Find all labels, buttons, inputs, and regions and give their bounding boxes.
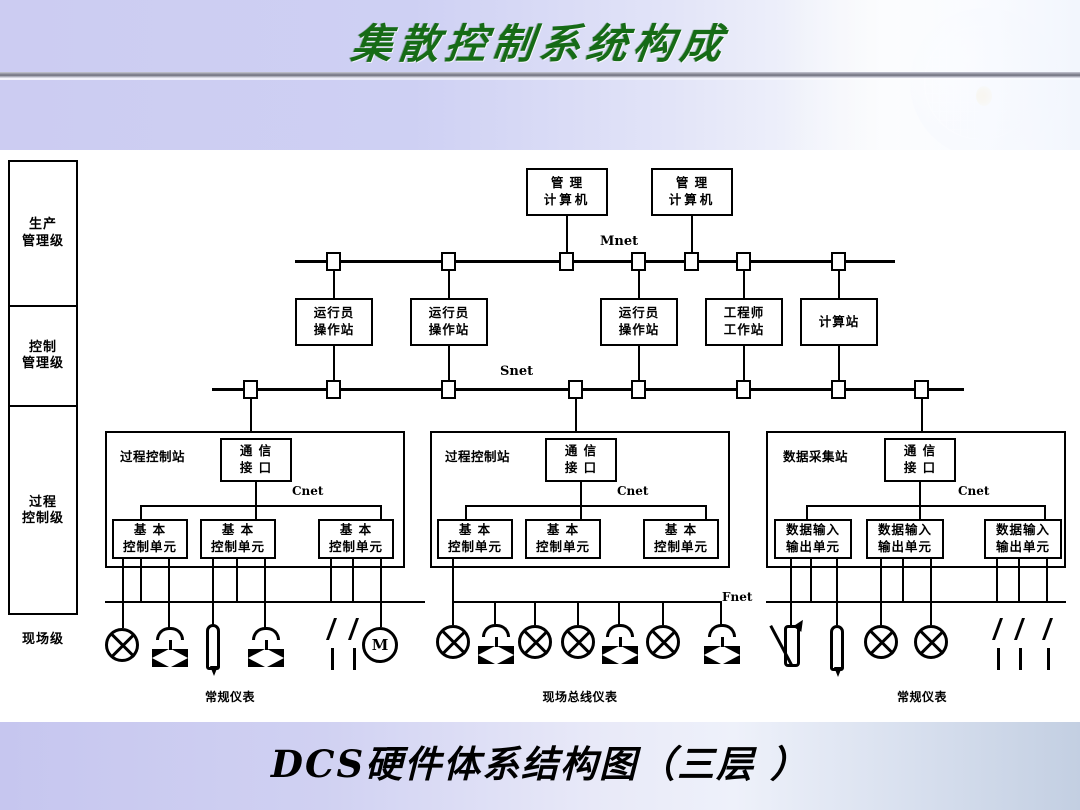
field-level-label: 现场级: [8, 628, 78, 647]
operator-station-1: 运行员 操作站: [295, 298, 373, 346]
variable-transmitter-icon: [784, 625, 804, 669]
field-drop: [140, 559, 142, 601]
link-op1-snet: [333, 346, 335, 384]
box-label-line2: 操作站: [314, 322, 355, 339]
basic-control-unit-1-1: 基 本 控制单元: [112, 519, 188, 559]
link-calc-snet: [838, 346, 840, 384]
cnet-bus-label-1: Cnet: [292, 484, 323, 498]
engineer-workstation: 工程师 工作站: [705, 298, 783, 346]
link-mnet-calc: [838, 269, 840, 301]
box-label-line1: 管 理: [551, 175, 583, 192]
fnet-bus-label: Fnet: [722, 590, 752, 604]
field-group-label-2: 现场总线仪表: [510, 688, 650, 705]
field-drop: [1018, 559, 1020, 601]
box-label-line1: 运行员: [619, 305, 660, 322]
box-label-line1: 基 本: [459, 522, 491, 539]
link-bcu-fnet: [452, 559, 454, 603]
box-label-line2: 工作站: [724, 322, 765, 339]
slide-canvas: 集散控制系统构成 生产 管理级 控制 管理级 过程 控制级: [0, 0, 1080, 810]
link-mnet-op3: [638, 269, 640, 301]
box-label-line1: 通 信: [904, 443, 936, 460]
page-title: 集散控制系统构成: [0, 10, 1080, 70]
field-drop: [930, 559, 932, 601]
mnet-bus-label: Mnet: [600, 234, 638, 249]
instrument-lead: [577, 603, 579, 625]
management-computer-2: 管 理 计算机: [651, 168, 733, 216]
control-valve-icon: [476, 624, 516, 666]
level-label-line1: 过程: [22, 495, 64, 511]
station-title-2: 过程控制站: [445, 446, 510, 465]
basic-control-unit-2-1: 基 本 控制单元: [437, 519, 513, 559]
box-label-line1: 通 信: [565, 443, 597, 460]
sensor-circle-cross-icon: [561, 625, 595, 659]
field-drop: [212, 559, 214, 601]
box-label-line1: 计算站: [819, 314, 860, 331]
thermowell-probe-icon: [206, 624, 220, 670]
operator-station-2: 运行员 操作站: [410, 298, 488, 346]
instrument-lead: [264, 603, 266, 628]
diagram-area: 生产 管理级 控制 管理级 过程 控制级 现场级 管 理 计算机: [0, 150, 1080, 722]
sensor-circle-cross-icon: [105, 628, 139, 662]
bus-tap-node-icon: [326, 380, 341, 399]
box-label-line2: 控制单元: [211, 539, 265, 556]
instrument-lead: [452, 603, 454, 625]
box-label-line1: 工程师: [724, 305, 765, 322]
field-wire-icon: [328, 618, 350, 670]
cnet-trunk-1: [255, 482, 257, 506]
field-drop: [996, 559, 998, 601]
instrument-lead: [212, 603, 214, 625]
box-label-line1: 基 本: [547, 522, 579, 539]
field-drop: [168, 559, 170, 601]
diagram-caption: DCS硬件体系结构图（三层 ）: [0, 734, 1080, 788]
thermowell-probe-icon: [830, 625, 844, 671]
link-snet-pcs2: [575, 398, 577, 432]
field-drop: [1046, 559, 1048, 601]
box-label-line2: 控制单元: [329, 539, 383, 556]
fnet-bus: [452, 601, 722, 603]
box-label-line2: 控制单元: [536, 539, 590, 556]
instrument-lead: [534, 603, 536, 625]
field-wire-icon: [1016, 618, 1038, 670]
cnet-rail-3: [806, 505, 1046, 507]
link-op2-snet: [448, 346, 450, 384]
cnet-bus-label-2: Cnet: [617, 484, 648, 498]
field-drop: [380, 559, 382, 601]
cnet-drop-3b: [919, 505, 921, 520]
box-label-line1: 基 本: [340, 522, 372, 539]
box-label-line1: 基 本: [665, 522, 697, 539]
field-drop: [790, 559, 792, 601]
data-io-unit-2: 数据输入 输出单元: [866, 519, 944, 559]
level-label-line2: 控制级: [22, 511, 64, 527]
control-valve-icon: [150, 627, 190, 669]
basic-control-unit-1-3: 基 本 控制单元: [318, 519, 394, 559]
box-label-line2: 输出单元: [996, 539, 1050, 556]
field-drop: [352, 559, 354, 601]
cnet-drop-1b: [255, 505, 257, 520]
instrument-lead: [790, 603, 792, 625]
field-drop: [264, 559, 266, 601]
box-label-line1: 运行员: [314, 305, 355, 322]
instrument-lead: [720, 603, 722, 625]
bus-tap-node-icon: [914, 380, 929, 399]
box-label-line2: 计算机: [669, 192, 716, 209]
level-cell-process-control: 过程 控制级: [10, 407, 76, 615]
level-label-line2: 管理级: [22, 234, 64, 250]
station-title-3: 数据采集站: [783, 446, 848, 465]
snet-bus-label: Snet: [500, 364, 533, 379]
box-label-line2: 控制单元: [123, 539, 177, 556]
box-label-line2: 控制单元: [448, 539, 502, 556]
field-group-label-3: 常规仪表: [862, 688, 982, 705]
cnet-drop-1c: [380, 505, 382, 520]
sensor-circle-cross-icon: [914, 625, 948, 659]
cnet-bus-label-3: Cnet: [958, 484, 989, 498]
cnet-drop-3c: [1044, 505, 1046, 520]
cnet-trunk-3: [919, 482, 921, 506]
cnet-trunk-2: [580, 482, 582, 506]
bus-tap-node-icon: [831, 380, 846, 399]
link-mgmt2-mnet: [691, 216, 693, 254]
instrument-lead: [618, 603, 620, 625]
sensor-circle-cross-icon: [864, 625, 898, 659]
sensor-circle-cross-icon: [518, 625, 552, 659]
box-label-line2: 操作站: [429, 322, 470, 339]
cnet-drop-2a: [465, 505, 467, 520]
box-label-line2: 输出单元: [786, 539, 840, 556]
title-banner: 集散控制系统构成: [0, 0, 1080, 150]
instrument-lead: [380, 603, 382, 627]
sensor-circle-cross-icon: [436, 625, 470, 659]
comm-interface-2: 通 信 接 口: [545, 438, 617, 482]
box-label-line2: 控制单元: [654, 539, 708, 556]
bus-tap-node-icon: [441, 380, 456, 399]
control-valve-icon: [246, 627, 286, 669]
box-label-line1: 运行员: [429, 305, 470, 322]
field-drop: [330, 559, 332, 601]
field-rail-right: [766, 601, 1066, 603]
bus-tap-node-icon: [559, 252, 574, 271]
box-label-line1: 基 本: [222, 522, 254, 539]
snet-bus: [212, 388, 964, 391]
banner-divider-highlight: [0, 78, 1080, 80]
caption-band: DCS硬件体系结构图（三层 ）: [0, 722, 1080, 810]
control-valve-icon: [600, 624, 640, 666]
basic-control-unit-1-2: 基 本 控制单元: [200, 519, 276, 559]
level-label-line2: 管理级: [22, 356, 64, 372]
bus-tap-node-icon: [243, 380, 258, 399]
control-valve-icon: [702, 624, 742, 666]
basic-control-unit-2-3: 基 本 控制单元: [643, 519, 719, 559]
field-group-label-1: 常规仪表: [170, 688, 290, 705]
instrument-lead: [880, 603, 882, 625]
cnet-rail-2: [465, 505, 707, 507]
instrument-lead: [930, 603, 932, 625]
box-label-line2: 接 口: [904, 460, 936, 477]
mnet-bus: [295, 260, 895, 263]
link-mgmt1-mnet: [566, 216, 568, 254]
field-drop: [236, 559, 238, 601]
basic-control-unit-2-2: 基 本 控制单元: [525, 519, 601, 559]
station-title-1: 过程控制站: [120, 446, 185, 465]
link-snet-pcs1: [250, 398, 252, 432]
link-mnet-op1: [333, 269, 335, 301]
comm-interface-3: 通 信 接 口: [884, 438, 956, 482]
comm-interface-1: 通 信 接 口: [220, 438, 292, 482]
box-label-line1: 数据输入: [996, 522, 1050, 539]
link-op3-snet: [638, 346, 640, 384]
sensor-circle-cross-icon: [646, 625, 680, 659]
link-mnet-eng: [743, 269, 745, 301]
box-label-line2: 操作站: [619, 322, 660, 339]
data-io-unit-1: 数据输入 输出单元: [774, 519, 852, 559]
bus-tap-node-icon: [736, 380, 751, 399]
bus-tap-node-icon: [631, 380, 646, 399]
field-drop: [836, 559, 838, 601]
data-io-unit-3: 数据输入 输出单元: [984, 519, 1062, 559]
cnet-drop-3a: [806, 505, 808, 520]
cnet-drop-2c: [705, 505, 707, 520]
field-drop: [902, 559, 904, 601]
link-mnet-op2: [448, 269, 450, 301]
instrument-lead: [494, 603, 496, 625]
level-cell-production: 生产 管理级: [10, 162, 76, 307]
box-label-line1: 数据输入: [786, 522, 840, 539]
instrument-lead: [836, 603, 838, 625]
field-drop: [122, 559, 124, 601]
box-label-line1: 基 本: [134, 522, 166, 539]
level-cell-control-management: 控制 管理级: [10, 307, 76, 407]
cnet-drop-2b: [580, 505, 582, 520]
level-sidebar: 生产 管理级 控制 管理级 过程 控制级: [8, 160, 78, 615]
field-drop: [810, 559, 812, 601]
bus-tap-node-icon: [568, 380, 583, 399]
field-wire-icon: [1044, 618, 1066, 670]
cnet-rail-1: [140, 505, 382, 507]
motor-icon: M: [362, 627, 398, 663]
management-computer-1: 管 理 计算机: [526, 168, 608, 216]
link-eng-snet: [743, 346, 745, 384]
box-label-line2: 输出单元: [878, 539, 932, 556]
instrument-lead: [122, 603, 124, 628]
box-label-line1: 通 信: [240, 443, 272, 460]
operator-station-3: 运行员 操作站: [600, 298, 678, 346]
bus-tap-node-icon: [684, 252, 699, 271]
field-drop: [880, 559, 882, 601]
level-label-line1: 生产: [22, 217, 64, 233]
instrument-lead: [168, 603, 170, 628]
instrument-lead: [662, 603, 664, 625]
level-label-line1: 控制: [22, 340, 64, 356]
computation-station: 计算站: [800, 298, 878, 346]
box-label-line1: 数据输入: [878, 522, 932, 539]
box-label-line2: 接 口: [565, 460, 597, 477]
box-label-line2: 计算机: [544, 192, 591, 209]
cnet-drop-1a: [140, 505, 142, 520]
link-snet-das: [921, 398, 923, 432]
box-label-line1: 管 理: [676, 175, 708, 192]
field-wire-icon: [994, 618, 1016, 670]
box-label-line2: 接 口: [240, 460, 272, 477]
